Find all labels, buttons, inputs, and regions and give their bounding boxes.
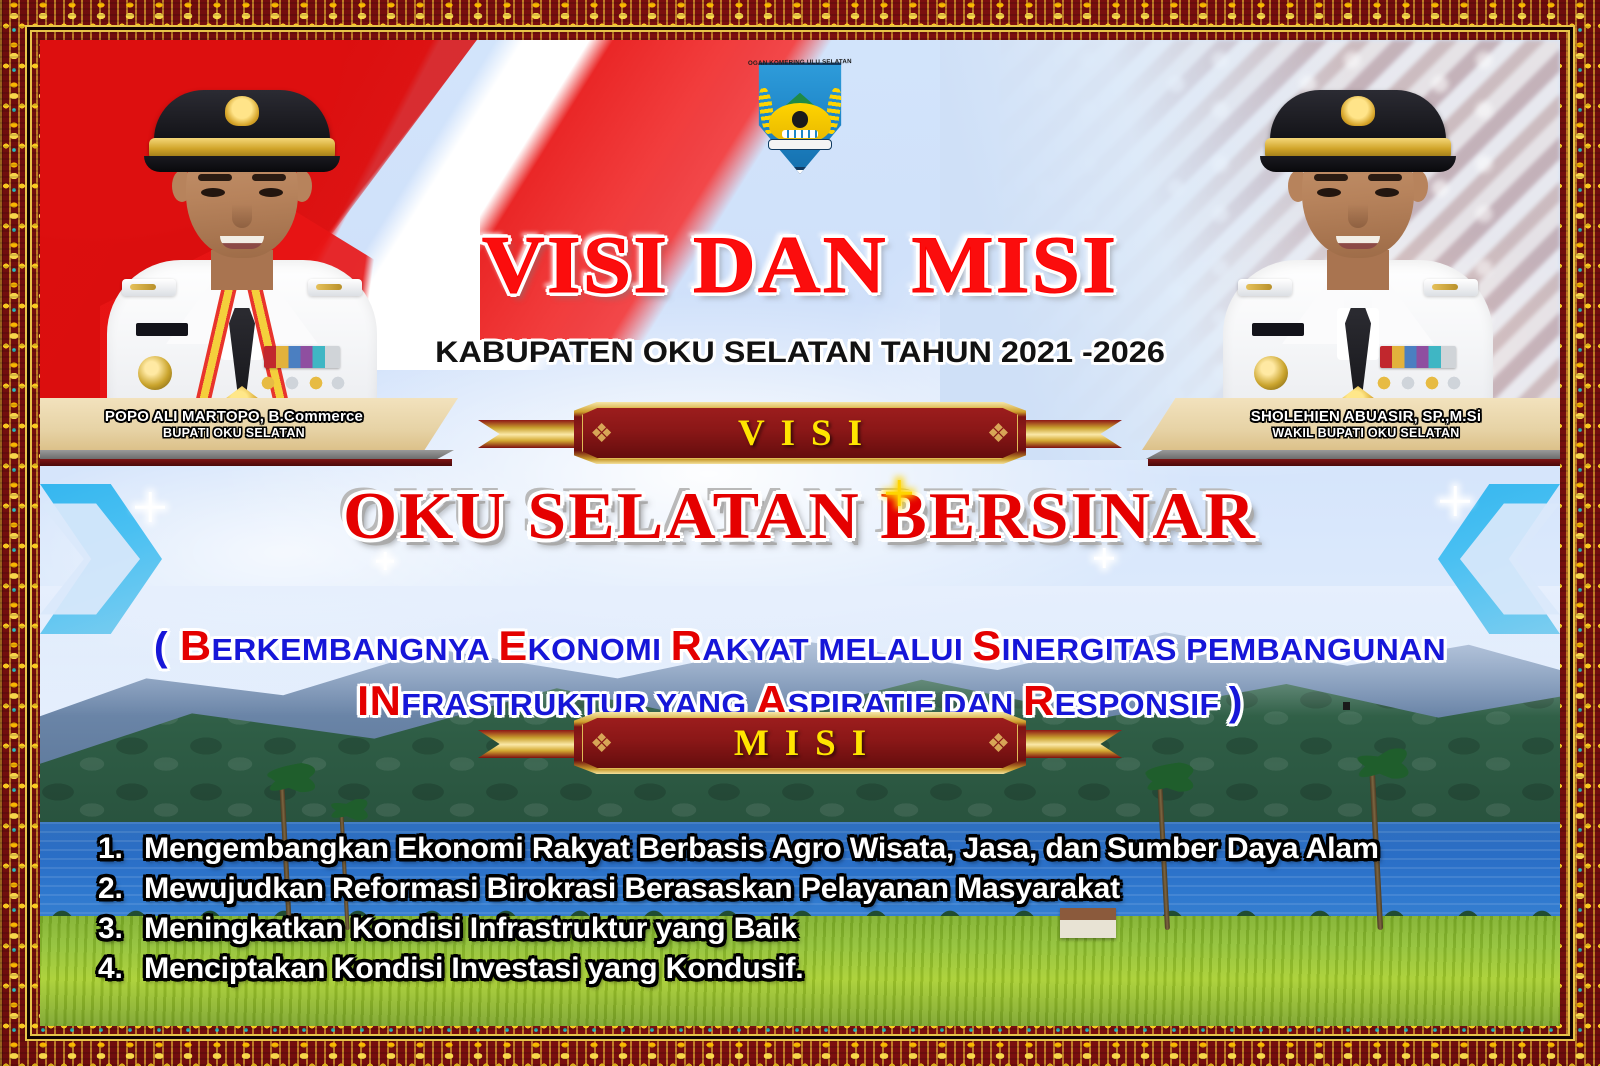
visi-ribbon: ❖ ❖ VISI (574, 402, 1026, 464)
acronym-segment: R (1023, 677, 1055, 724)
nameplate-underline (1148, 459, 1560, 466)
mission-item: 1.Mengembangkan Ekonomi Rakyat Berbasis … (98, 832, 1520, 866)
page-subtitle: KABUPATEN OKU SELATAN TAHUN 2021 -2026 (40, 336, 1560, 370)
acronym-segment: ) (1229, 680, 1243, 724)
acronym-segment: AKYAT MELALUI (702, 632, 972, 667)
acronym-segment: ESPONSIF (1055, 687, 1229, 722)
mission-number: 3. (98, 912, 144, 946)
mission-item: 2.Mewujudkan Reformasi Birokrasi Berasas… (98, 872, 1520, 906)
mission-text: Menciptakan Kondisi Investasi yang Kondu… (144, 952, 804, 986)
bupati-role: BUPATI OKU SELATAN (163, 426, 305, 440)
misi-ribbon: ❖ ❖ MISI (574, 712, 1026, 774)
misi-label: MISI (574, 712, 1026, 774)
garuda-cap-emblem-icon (1341, 96, 1375, 126)
nameplate-wakil-bupati: SHOLEHIEN ABUASIR, SP.,M.Si WAKIL BUPATI… (1142, 398, 1560, 450)
mission-number: 4. (98, 952, 144, 986)
mission-item: 3.Meningkatkan Kondisi Infrastruktur yan… (98, 912, 1520, 946)
mission-number: 2. (98, 872, 144, 906)
mission-text: Mengembangkan Ekonomi Rakyat Berbasis Ag… (144, 832, 1379, 866)
mission-list: 1.Mengembangkan Ekonomi Rakyat Berbasis … (98, 832, 1520, 992)
nameplate-bupati: POPO ALI MARTOPO, B.Commerce BUPATI OKU … (40, 398, 458, 450)
medals-row-icon (256, 370, 348, 396)
acronym-segment: ( (154, 625, 180, 669)
mission-text: Mewujudkan Reformasi Birokrasi Berasaska… (144, 872, 1120, 906)
acronym-segment: INERGITAS PEMBANGUNAN (1002, 632, 1446, 667)
acronym-segment: S (972, 622, 1001, 669)
garuda-cap-emblem-icon (225, 96, 259, 126)
mission-item: 4.Menciptakan Kondisi Investasi yang Kon… (98, 952, 1520, 986)
acronym-segment: E (498, 622, 527, 669)
page-title: VISI DAN MISI (40, 226, 1560, 305)
oku-selatan-coat-of-arms-icon: OGAN KOMERING ULU SELATAN (751, 58, 849, 174)
acronym-segment: ERKEMBANGNYA (211, 632, 498, 667)
mission-text: Meningkatkan Kondisi Infrastruktur yang … (144, 912, 797, 946)
acronym-segment: KONOMI (528, 632, 671, 667)
banner-root: POPO ALI MARTOPO, B.Commerce BUPATI OKU … (0, 0, 1600, 1066)
vision-headline: OKU SELATAN BERSINAR (40, 478, 1560, 555)
medals-row-icon (1372, 370, 1464, 396)
acronym-segment: R (671, 622, 703, 669)
nameplate-shadow (40, 450, 454, 459)
mission-number: 1. (98, 832, 144, 866)
nameplate-underline (40, 459, 452, 466)
nameplate-shadow (1146, 450, 1560, 459)
visi-label: VISI (574, 402, 1026, 464)
content-panel: POPO ALI MARTOPO, B.Commerce BUPATI OKU … (40, 40, 1560, 1026)
uniform-nametag (1252, 323, 1304, 336)
acronym-segment: B (180, 622, 212, 669)
bupati-name: POPO ALI MARTOPO, B.Commerce (105, 408, 363, 425)
wakil-bupati-role: WAKIL BUPATI OKU SELATAN (1272, 426, 1459, 440)
stray-dot-mark (1343, 702, 1350, 710)
wakil-bupati-name: SHOLEHIEN ABUASIR, SP.,M.Si (1251, 408, 1481, 425)
vision-acronym-line-1: ( BERKEMBANGNYA EKONOMI RAKYAT MELALUI S… (40, 622, 1560, 670)
uniform-nametag (136, 323, 188, 336)
acronym-segment: IN (357, 677, 401, 724)
